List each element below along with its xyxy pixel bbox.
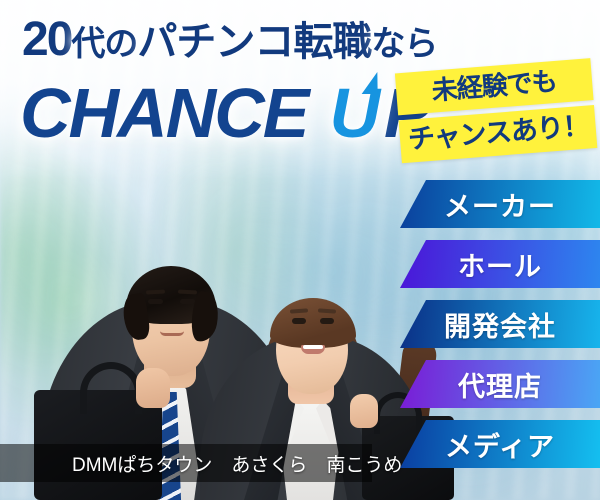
category-button-maker[interactable]: メーカー: [400, 180, 600, 228]
headline-part3: なら: [371, 25, 437, 63]
chance-up-logo: CHANCE U P: [20, 72, 429, 154]
caption-text: DMMぱちタウン あさくら 南こうめ: [0, 450, 402, 477]
man-mouth: [160, 331, 184, 336]
caption-bar: DMMぱちタウン あさくら 南こうめ: [0, 444, 372, 482]
category-label: 開発会社: [444, 305, 556, 344]
headline-number: 20: [22, 13, 71, 66]
headline: 20代のパチンコ転職なら: [22, 16, 442, 64]
woman-eye-left: [292, 318, 306, 324]
category-label: メディア: [445, 425, 555, 464]
woman-teeth: [303, 345, 323, 349]
man-eye-right: [180, 299, 195, 304]
man-hand: [136, 368, 170, 408]
woman-hand: [350, 394, 378, 428]
category-label: メーカー: [444, 185, 556, 224]
headline-part2: パチンコ転職: [137, 20, 371, 64]
category-label: 代理店: [458, 365, 542, 404]
woman-bangs: [270, 298, 356, 348]
category-label: ホール: [458, 245, 542, 284]
badge-line-2: チャンスあり！: [399, 105, 598, 163]
category-button-agency[interactable]: 代理店: [400, 360, 600, 408]
logo-letter-u-arrow-icon: U: [329, 78, 378, 148]
headline-part1: 代の: [71, 25, 137, 63]
category-button-media[interactable]: メディア: [400, 420, 600, 468]
logo-word-chance: CHANCE: [20, 78, 307, 148]
man-eye-left: [148, 299, 163, 304]
banner-ad[interactable]: 20代のパチンコ転職なら CHANCE U P 未経験でも チャンスあり！ メー…: [0, 0, 600, 500]
highlight-badge: 未経験でも チャンスあり！: [395, 58, 598, 168]
category-list: メーカー ホール 開発会社 代理店 メディア: [400, 180, 600, 480]
category-button-hall[interactable]: ホール: [400, 240, 600, 288]
category-button-development-company[interactable]: 開発会社: [400, 300, 600, 348]
woman-eye-right: [320, 318, 334, 324]
